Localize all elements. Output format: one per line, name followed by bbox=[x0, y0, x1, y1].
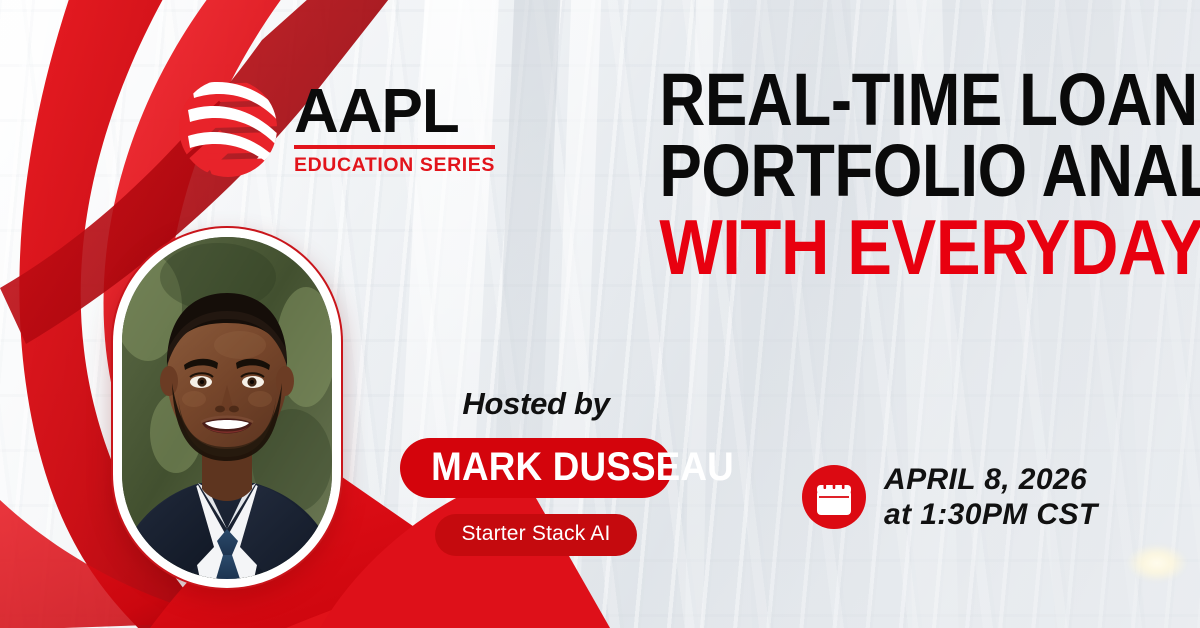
speaker-name: MARK DUSSEAU bbox=[431, 447, 734, 487]
education-series-tagline: EDUCATION SERIES bbox=[294, 154, 495, 177]
headline-line-1: REAL-TIME LOAN bbox=[659, 64, 1142, 135]
event-date: APRIL 8, 2026 bbox=[884, 462, 1098, 497]
aapl-wordmark: AAPL bbox=[294, 83, 495, 140]
event-time: at 1:30PM CST bbox=[884, 497, 1098, 532]
headline-line-2: PORTFOLIO ANALYSIS bbox=[659, 135, 1142, 206]
aapl-wordmark-block: AAPL EDUCATION SERIES bbox=[294, 79, 495, 176]
event-datetime-block: APRIL 8, 2026 at 1:30PM CST bbox=[802, 462, 1098, 533]
logo-divider-rule bbox=[294, 145, 495, 149]
speaker-organization-badge: Starter Stack AI bbox=[435, 514, 636, 556]
speaker-portrait-illustration bbox=[122, 237, 332, 579]
background-light-flare bbox=[1128, 545, 1186, 581]
event-datetime-text: APRIL 8, 2026 at 1:30PM CST bbox=[884, 462, 1098, 533]
aapl-striped-globe-icon bbox=[176, 76, 280, 180]
headline-line-3: WITH EVERYDAY TOOLS bbox=[659, 210, 1142, 285]
page-title: REAL-TIME LOAN PORTFOLIO ANALYSIS WITH E… bbox=[620, 64, 1182, 285]
host-block: Hosted by MARK DUSSEAU Starter Stack AI bbox=[400, 386, 672, 556]
hosted-by-label: Hosted by bbox=[400, 386, 672, 422]
speaker-photo bbox=[122, 237, 332, 579]
webinar-promo-banner: AAPL EDUCATION SERIES REAL-TIME LOAN POR… bbox=[0, 0, 1200, 628]
calendar-icon bbox=[802, 465, 866, 529]
aapl-logo: AAPL EDUCATION SERIES bbox=[176, 76, 495, 180]
speaker-avatar bbox=[113, 228, 341, 588]
speaker-organization: Starter Stack AI bbox=[461, 522, 610, 545]
speaker-name-badge: MARK DUSSEAU bbox=[400, 438, 672, 498]
